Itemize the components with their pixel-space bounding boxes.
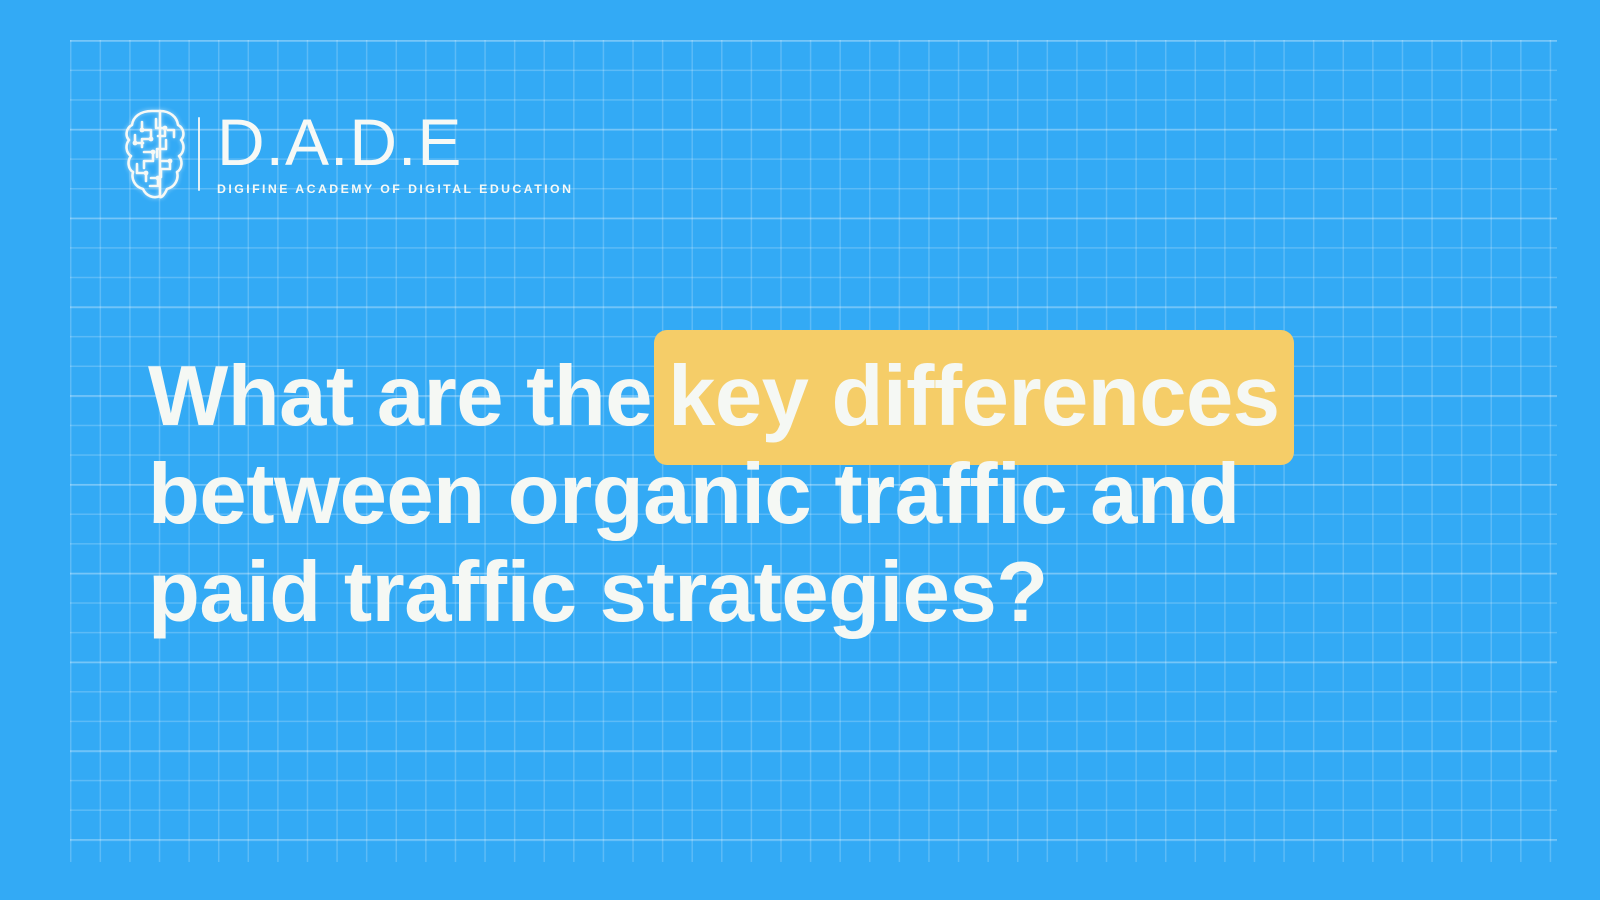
- headline-question: What are thekey differences between orga…: [148, 348, 1508, 642]
- logo-tagline: DIGIFINE ACADEMY OF DIGITAL EDUCATION: [217, 182, 573, 196]
- slide-canvas: D.A.D.E DIGIFINE ACADEMY OF DIGITAL EDUC…: [0, 0, 1600, 900]
- logo-wordmark: D.A.D.E: [217, 112, 573, 173]
- headline-line-3: paid traffic strategies?: [148, 544, 1508, 642]
- brain-circuit-icon: [122, 106, 188, 202]
- headline-line-1-text: What are the: [148, 349, 652, 444]
- brand-logo: D.A.D.E DIGIFINE ACADEMY OF DIGITAL EDUC…: [122, 104, 573, 204]
- logo-divider: [198, 117, 200, 191]
- headline-line-2: between organic traffic and: [148, 446, 1508, 544]
- headline-line-1: What are thekey differences: [148, 348, 1508, 446]
- logo-text-block: D.A.D.E DIGIFINE ACADEMY OF DIGITAL EDUC…: [217, 112, 573, 196]
- headline-highlight-phrase: key differences: [654, 330, 1293, 465]
